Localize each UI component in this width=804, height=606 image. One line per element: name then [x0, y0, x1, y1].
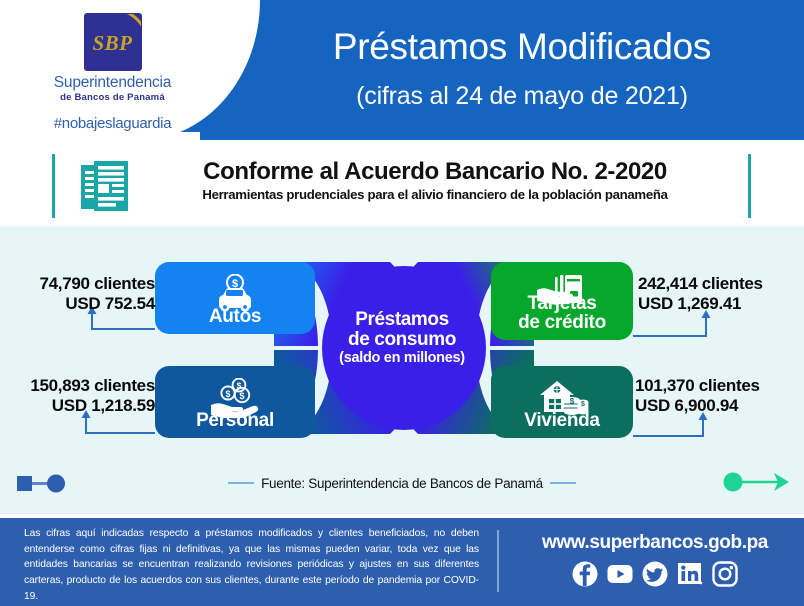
value-vivienda: 101,370 clientes USD 6,900.94	[635, 376, 798, 415]
house-with-coins-icon: $ $	[491, 378, 633, 418]
value-personal-amount: USD 1,218.59	[2, 396, 155, 416]
logo-subname: de Bancos de Panamá	[0, 92, 225, 103]
center-line2: de consumo	[306, 330, 498, 350]
page-subtitle: (cifras al 24 de mayo de 2021)	[250, 82, 794, 111]
footer-contact: www.superbancos.gob.pa	[520, 532, 790, 587]
linkedin-icon[interactable]	[677, 561, 703, 587]
car-with-dollar-icon: $	[155, 274, 315, 314]
footer-disclaimer: Las cifras aquí indicadas respecto a pré…	[24, 526, 479, 604]
instagram-icon[interactable]	[712, 561, 738, 587]
social-links	[520, 561, 790, 587]
logo-initials: SBP	[85, 31, 141, 56]
value-personal: 150,893 clientes USD 1,218.59	[2, 376, 155, 415]
sbp-logo-mark: SBP	[85, 14, 141, 70]
center-line3: (saldo en millones)	[306, 351, 498, 367]
twitter-icon[interactable]	[642, 561, 668, 587]
node-tarjetas-label-line2: de crédito	[518, 312, 606, 333]
source-dash-right	[550, 482, 576, 484]
source-label: Fuente: Superintendencia de Bancos de Pa…	[261, 476, 543, 491]
value-tarjetas-clients: 242,414 clientes	[638, 274, 798, 294]
value-autos-clients: 74,790 clientes	[10, 274, 155, 294]
banner-subtitle: Herramientas prudenciales para el alivio…	[130, 187, 740, 202]
infographic-page: SBP Superintendencia de Bancos de Panamá…	[0, 0, 804, 606]
source-text: Fuente: Superintendencia de Bancos de Pa…	[0, 476, 804, 491]
header: SBP Superintendencia de Bancos de Panamá…	[0, 0, 804, 140]
banner-title: Conforme al Acuerdo Bancario No. 2-2020	[130, 158, 740, 186]
hand-with-coins-icon: $ $ $	[155, 378, 315, 418]
value-personal-clients: 150,893 clientes	[2, 376, 155, 396]
node-vivienda[interactable]: $ $ Vivienda	[491, 366, 633, 438]
node-personal[interactable]: $ $ $ Personal	[155, 366, 315, 438]
node-autos[interactable]: $ Autos	[155, 262, 315, 334]
value-tarjetas: 242,414 clientes USD 1,269.41	[638, 274, 798, 313]
svg-text:$: $	[239, 390, 245, 401]
value-autos: 74,790 clientes USD 752.54	[10, 274, 155, 313]
center-line1: Préstamos	[306, 310, 498, 330]
website-url[interactable]: www.superbancos.gob.pa	[520, 532, 790, 554]
banner-rule-left	[52, 154, 55, 218]
agreement-banner: Conforme al Acuerdo Bancario No. 2-2020 …	[0, 146, 804, 226]
facebook-icon[interactable]	[572, 561, 598, 587]
logo-hashtag: #nobajeslaguardia	[0, 115, 225, 132]
source-row: Fuente: Superintendencia de Bancos de Pa…	[0, 466, 804, 514]
svg-text:$: $	[226, 389, 231, 399]
logo-name: Superintendencia	[0, 74, 225, 92]
banner-rule-right	[748, 154, 751, 218]
page-title: Préstamos Modificados	[250, 26, 794, 69]
node-tarjetas[interactable]: Tarjetas de crédito	[491, 262, 633, 340]
banner-text: Conforme al Acuerdo Bancario No. 2-2020 …	[130, 158, 740, 202]
diagram-area: Préstamos de consumo (saldo en millones)…	[0, 226, 804, 514]
value-autos-amount: USD 752.54	[10, 294, 155, 314]
loans-diagram: Préstamos de consumo (saldo en millones)…	[0, 226, 804, 466]
value-vivienda-clients: 101,370 clientes	[635, 376, 798, 396]
circle-arrow-icon	[722, 468, 790, 496]
svg-text:$: $	[581, 401, 585, 408]
value-vivienda-amount: USD 6,900.94	[635, 396, 798, 416]
footer: Las cifras aquí indicadas respecto a pré…	[0, 518, 804, 606]
footer-divider	[497, 530, 499, 592]
svg-text:$: $	[570, 397, 575, 406]
source-dash-left	[228, 482, 254, 484]
center-label: Préstamos de consumo (saldo en millones)	[306, 310, 498, 366]
hand-with-credit-card-icon	[491, 274, 633, 310]
youtube-icon[interactable]	[607, 561, 633, 587]
value-tarjetas-amount: USD 1,269.41	[638, 294, 798, 314]
logo: SBP Superintendencia de Bancos de Panamá…	[0, 14, 225, 132]
